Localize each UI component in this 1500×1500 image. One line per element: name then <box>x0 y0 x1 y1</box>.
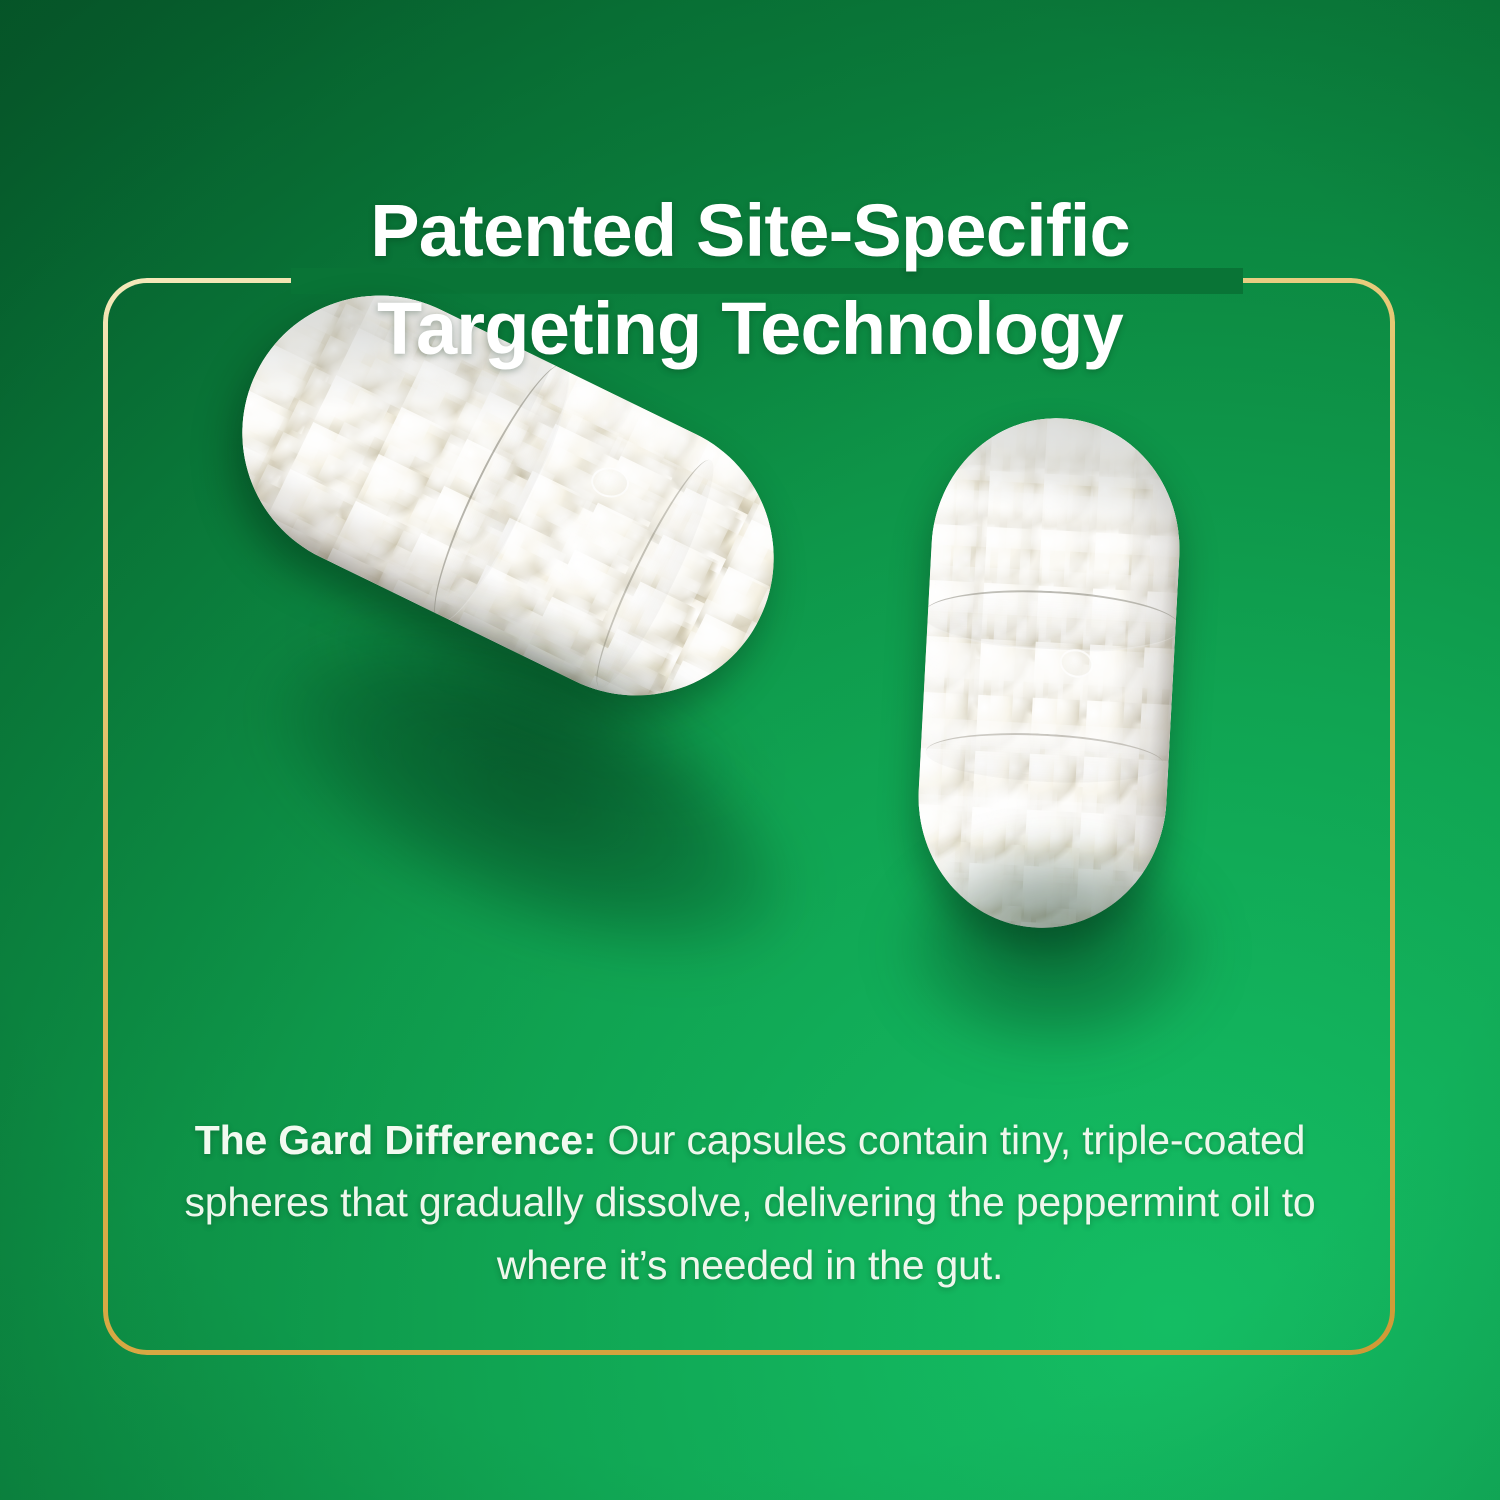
body-copy: The Gard Difference: Our capsules contai… <box>150 1109 1350 1296</box>
capsule-right-gel-highlight <box>912 412 1186 934</box>
page-title: Patented Site-Specific Targeting Technol… <box>0 182 1500 379</box>
capsule-right-shell <box>912 412 1186 934</box>
page-title-line-1: Patented Site-Specific <box>370 189 1130 272</box>
capsule-right-reflection <box>905 860 1205 1050</box>
capsule-right <box>912 412 1186 934</box>
product-feature-card: Patented Site-Specific Targeting Technol… <box>0 0 1500 1500</box>
page-title-line-2: Targeting Technology <box>0 280 1500 378</box>
body-copy-lead: The Gard Difference: <box>195 1117 597 1163</box>
capsule-photo-group <box>0 300 1500 1060</box>
